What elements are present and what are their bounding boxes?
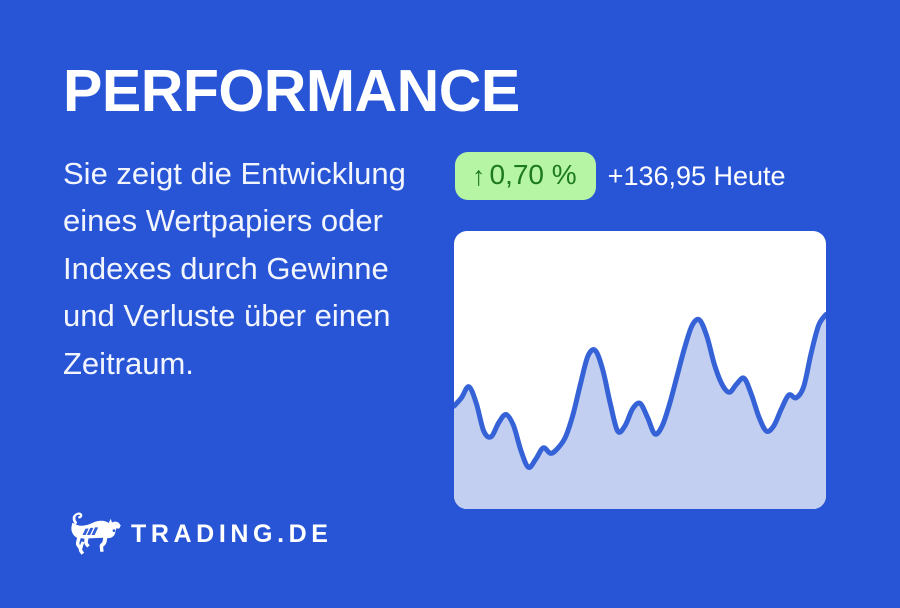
chart-area-fill [454, 314, 826, 509]
performance-chart-card [454, 231, 826, 509]
performance-area-chart [454, 231, 826, 509]
poster-canvas: PERFORMANCE Sie zeigt die Entwicklung ei… [0, 0, 900, 608]
logo-text: TRADING.DE [131, 522, 333, 547]
stats-row: ↑ 0,70 % +136,95 Heute [455, 152, 786, 200]
brand-logo: TRADING.DE [63, 508, 333, 561]
description-text: Sie zeigt die Entwicklung eines Wertpapi… [63, 150, 443, 387]
bull-logo-icon [63, 508, 127, 561]
absolute-change-value: +136,95 Heute [608, 163, 786, 190]
arrow-up-icon: ↑ [472, 163, 486, 190]
percent-change-value: 0,70 % [490, 161, 577, 189]
page-title: PERFORMANCE [63, 62, 453, 121]
left-content-column: PERFORMANCE Sie zeigt die Entwicklung ei… [63, 62, 453, 387]
status-badge: ↑ 0,70 % [455, 152, 596, 200]
